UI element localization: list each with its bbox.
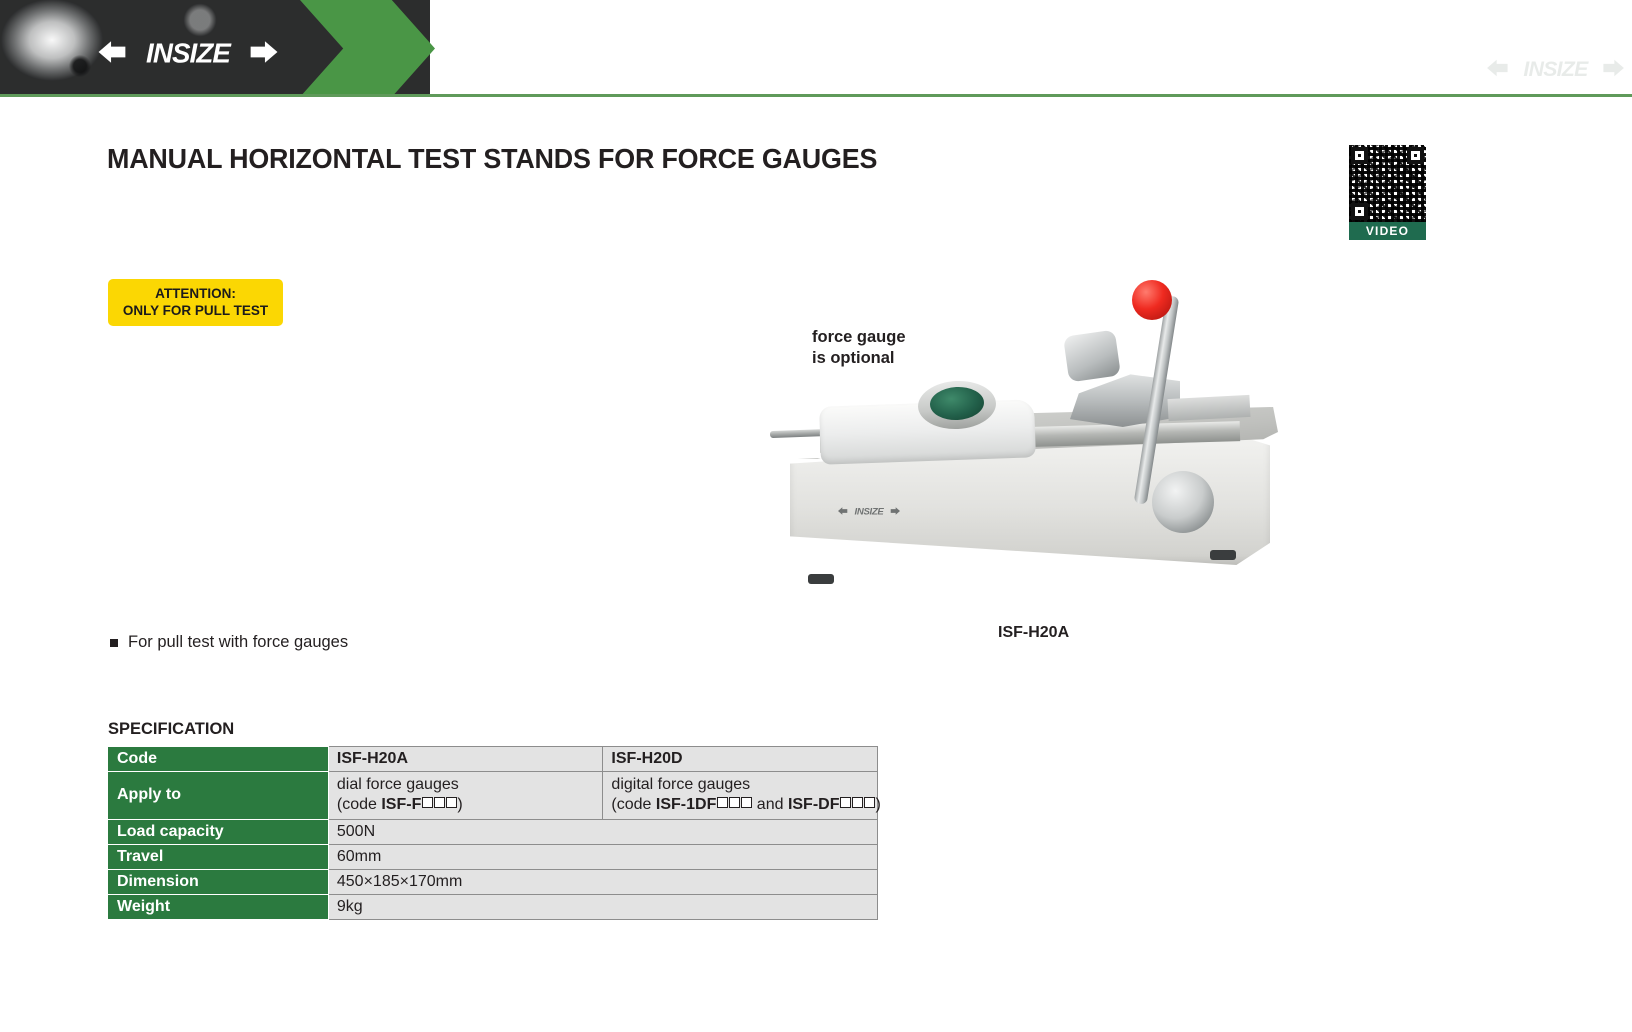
product-caption: ISF-H20A [998,624,1069,642]
product-photo-isf-h20a: INSIZE [770,275,1290,620]
attention-line-2: ONLY FOR PULL TEST [123,303,268,320]
table-row-weight: Weight 9kg [109,894,878,919]
insize-logo: INSIZE [98,35,278,69]
table-row-apply-to: Apply to dial force gauges (code ISF-F) … [109,772,878,820]
page-title: MANUAL HORIZONTAL TEST STANDS FOR FORCE … [107,143,877,175]
apply-dial-suffix: ) [457,796,462,813]
page-header: INSIZE INSIZE [0,0,1632,97]
product-foot-left [808,574,834,584]
apply-digital-suffix: ) [875,796,880,813]
specification-heading: SPECIFICATION [108,720,234,739]
qr-finder-bottom-left [1351,203,1368,220]
cell-code-isf-h20d: ISF-H20D [603,747,878,772]
insize-watermark-text: INSIZE [1523,58,1589,81]
feature-list: For pull test with force gauges [110,632,348,659]
qr-finder-top-right [1407,147,1424,164]
cell-dimension-value: 450×185×170mm [328,869,877,894]
apply-digital-code-1: ISF-1DF [656,796,716,813]
cell-apply-digital: digital force gauges (code ISF-1DF and I… [603,772,878,820]
row-label-code: Code [109,747,329,772]
header-green-rule [0,94,1632,97]
insize-watermark-logo: INSIZE [1483,55,1628,81]
apply-dial-code: ISF-F [381,796,421,813]
product-upper-clamp [1063,330,1121,383]
attention-callout: ATTENTION: ONLY FOR PULL TEST [108,279,283,326]
product-lever-knob [1132,280,1172,320]
table-row-travel: Travel 60mm [109,844,878,869]
apply-digital-code-2: ISF-DF [788,796,840,813]
apply-digital-line-2: (code ISF-1DF and ISF-DF) [611,795,869,815]
apply-dial-line-1: dial force gauges [337,775,595,795]
row-label-apply-to: Apply to [109,772,329,820]
list-item: For pull test with force gauges [110,632,348,653]
placeholder-square-icon [741,797,752,808]
apply-dial-prefix: (code [337,796,381,813]
placeholder-square-icon [840,797,851,808]
placeholder-square-icon [864,797,875,808]
table-row-code: Code ISF-H20A ISF-H20D [109,747,878,772]
product-foot-right [1210,550,1236,560]
product-handwheel [1152,471,1214,533]
insize-logo-text: INSIZE [146,38,232,69]
table-row-load-capacity: Load capacity 500N [109,819,878,844]
qr-code-icon[interactable] [1349,145,1426,222]
product-mount-plate [1167,395,1250,421]
product-insize-logo-text: INSIZE [854,507,884,517]
cell-weight-value: 9kg [328,894,877,919]
apply-digital-prefix: (code [611,796,655,813]
row-label-travel: Travel [109,844,329,869]
cell-travel-value: 60mm [328,844,877,869]
cell-load-capacity-value: 500N [328,819,877,844]
video-qr-block[interactable]: VIDEO [1349,145,1426,240]
video-label: VIDEO [1349,222,1426,240]
cell-apply-dial: dial force gauges (code ISF-F) [328,772,603,820]
cell-code-isf-h20a: ISF-H20A [328,747,603,772]
square-bullet-icon [110,639,118,647]
placeholder-square-icon [446,797,457,808]
row-label-load-capacity: Load capacity [109,819,329,844]
placeholder-square-icon [422,797,433,808]
product-insize-logo: INSIZE [838,505,900,517]
qr-finder-top-left [1351,147,1368,164]
apply-dial-line-2: (code ISF-F) [337,795,595,815]
placeholder-square-icon [852,797,863,808]
row-label-weight: Weight [109,894,329,919]
table-row-dimension: Dimension 450×185×170mm [109,869,878,894]
feature-text: For pull test with force gauges [128,632,348,653]
placeholder-square-icon [717,797,728,808]
apply-digital-line-1: digital force gauges [611,775,869,795]
apply-digital-conjunction: and [752,796,788,813]
row-label-dimension: Dimension [109,869,329,894]
placeholder-square-icon [434,797,445,808]
placeholder-square-icon [729,797,740,808]
attention-line-1: ATTENTION: [155,286,236,303]
specification-table: Code ISF-H20A ISF-H20D Apply to dial for… [108,746,878,920]
